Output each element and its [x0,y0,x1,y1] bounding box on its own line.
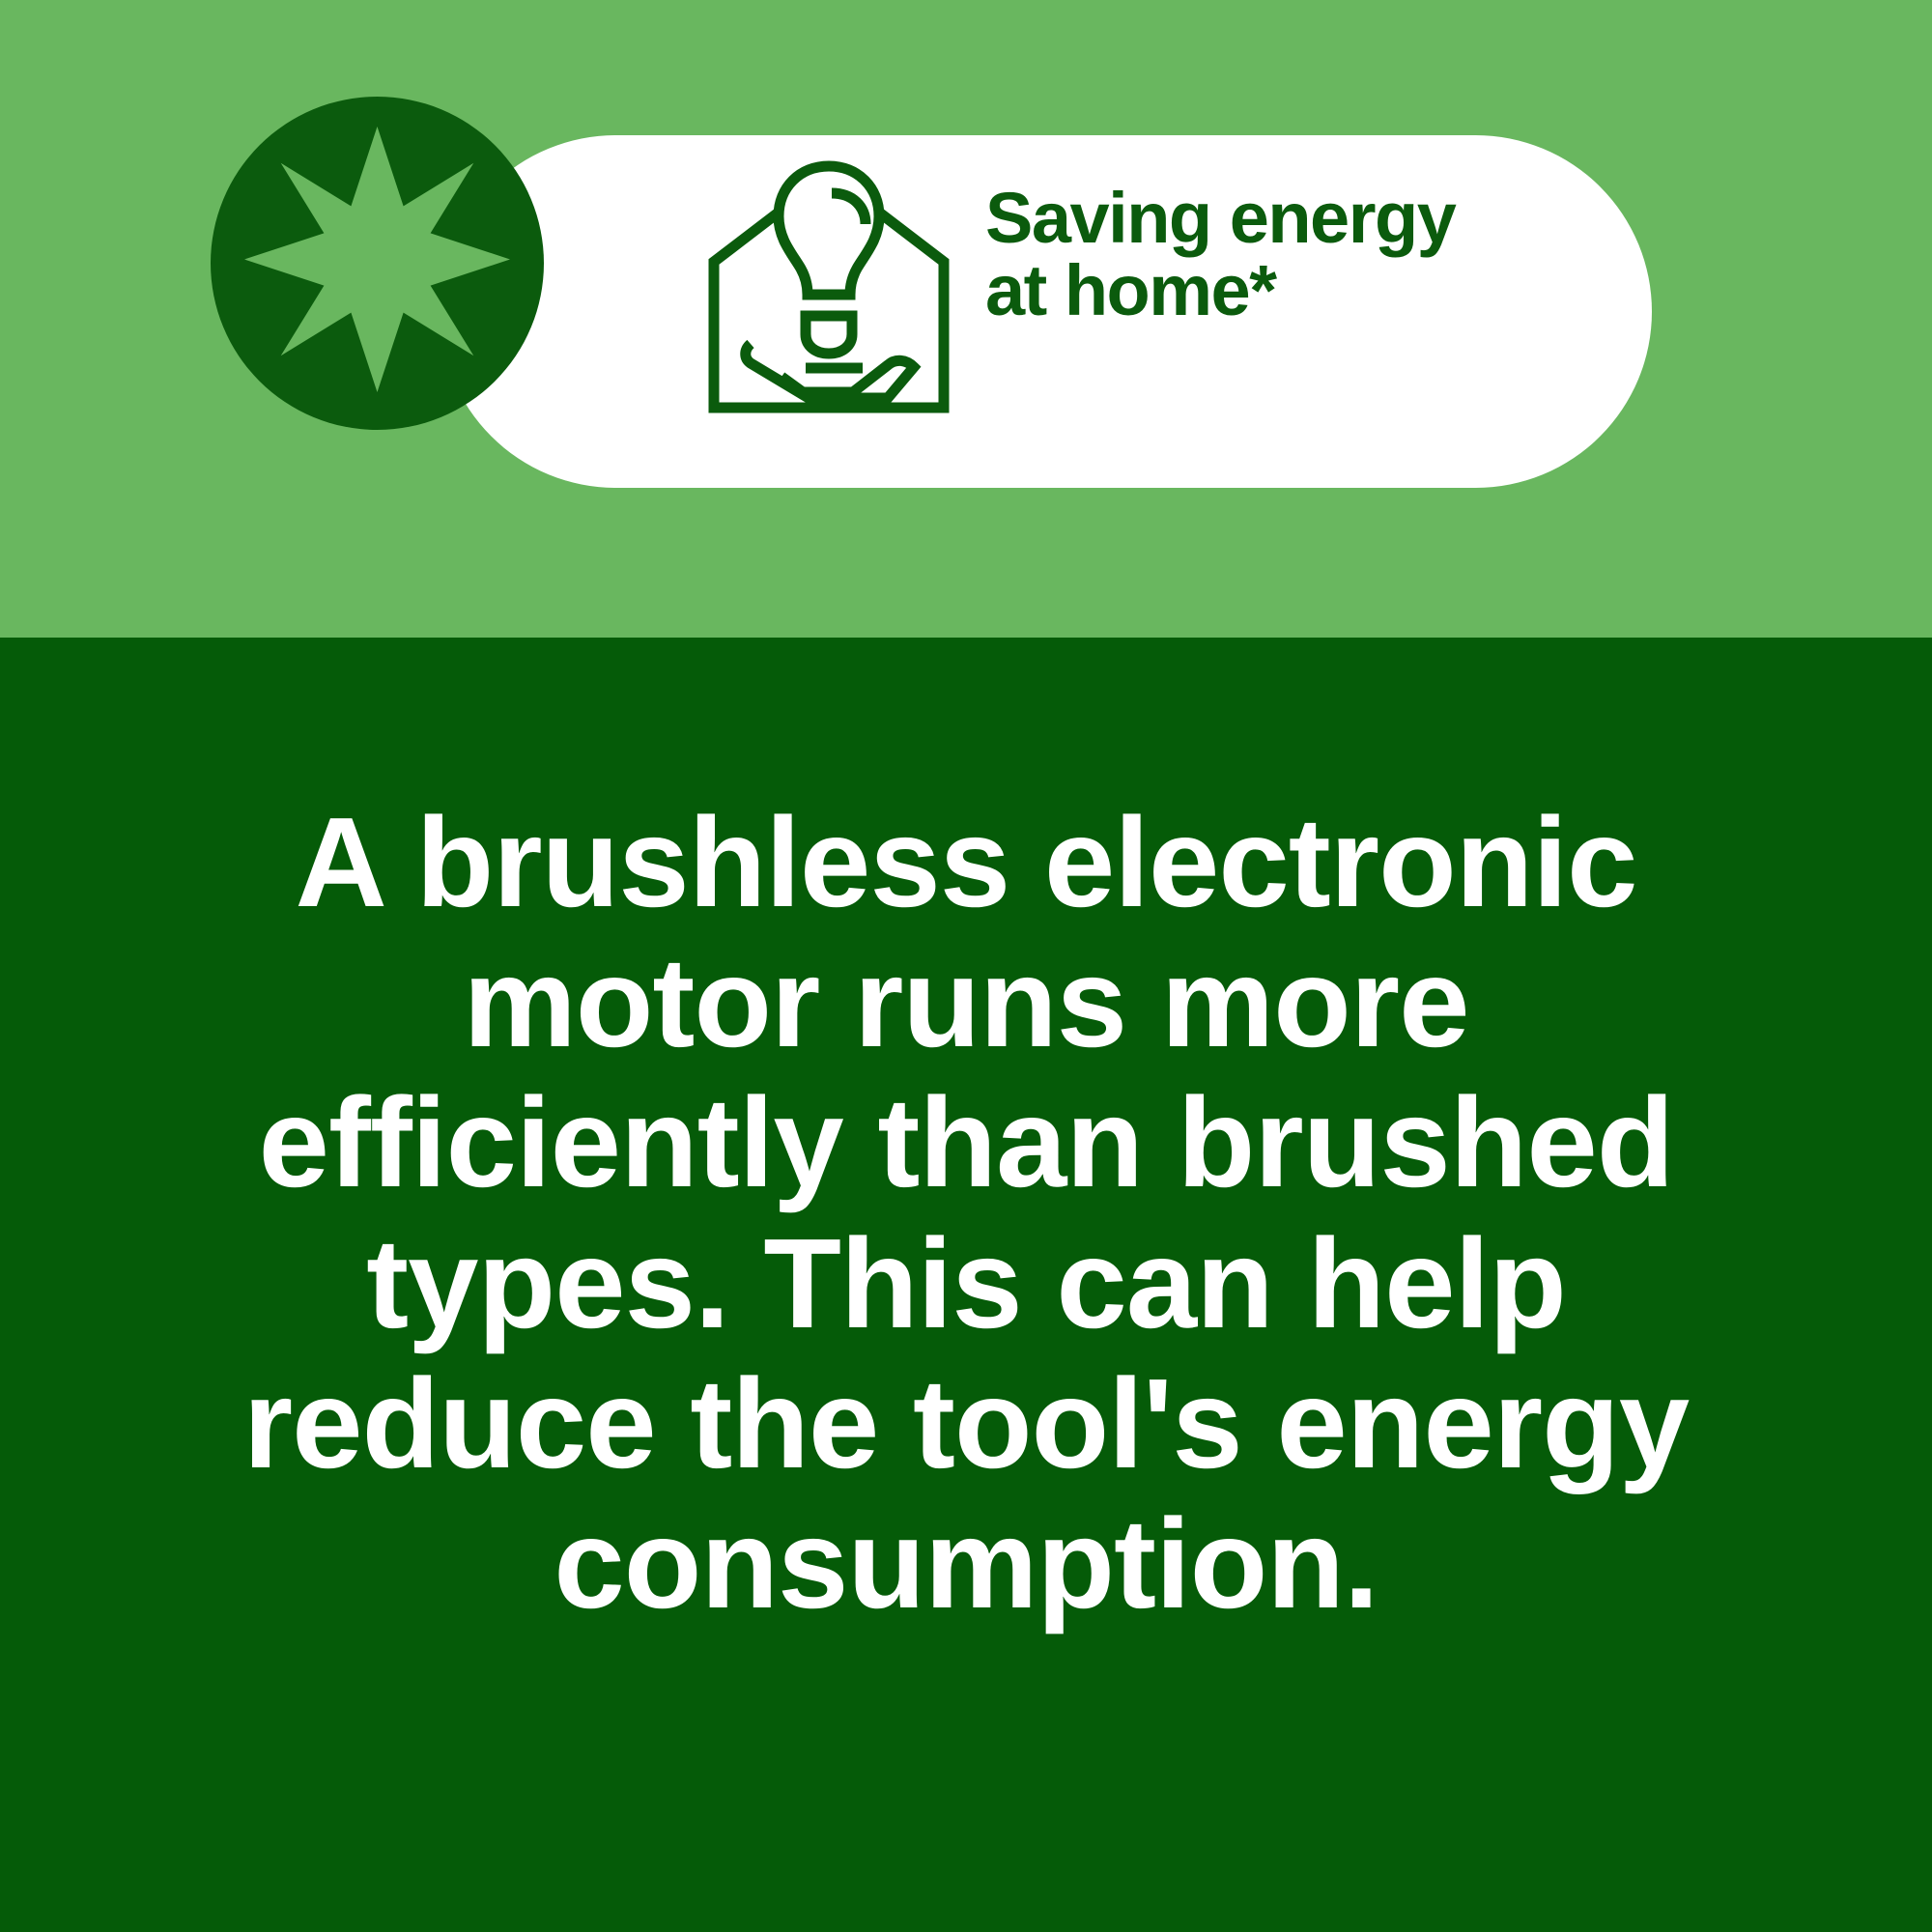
headline-line-1: A brushless electronic [97,792,1835,932]
headline-line-4: types. This can help [97,1213,1835,1353]
eight-point-star-icon [244,127,510,392]
headline-line-2: motor runs more [97,932,1835,1072]
headline-line-3: efficiently than brushed [97,1072,1835,1212]
pill-title-line-1: Saving energy [985,182,1604,254]
pill-title-line-2: at home* [985,254,1604,327]
headline-line-6: consumption. [97,1493,1835,1634]
headline-text: A brushless electronic motor runs more e… [0,792,1932,1634]
house-lightbulb-hand-icon [708,160,950,413]
pill-title: Saving energy at home* [985,182,1604,327]
saving-energy-pill: Saving energy at home* [440,135,1652,488]
star-badge [211,97,544,430]
poster-canvas: Saving energy at home* A brushless elect… [0,0,1932,1932]
headline-line-5: reduce the tool's energy [97,1353,1835,1493]
